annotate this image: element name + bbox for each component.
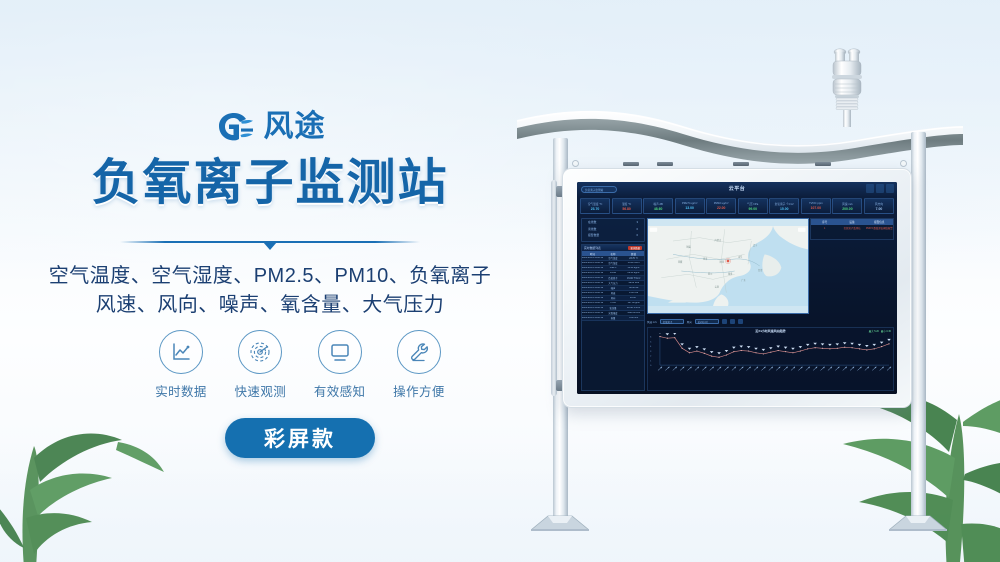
- wind-direction-icon: [880, 367, 884, 371]
- dashboard-title: 云平台: [577, 185, 897, 192]
- marketing-copy-panel: 风途 负氧离子监测站 空气温度、空气湿度、PM2.5、PM10、负氧离子 风速、…: [0, 0, 540, 562]
- chart-point: [696, 351, 697, 352]
- table-cell: 2023-06-21 11:00:12: [582, 312, 603, 314]
- layer-tool-icon[interactable]: [876, 184, 884, 193]
- metric-card[interactable]: 空气温度 ℃23.70: [580, 198, 610, 214]
- table-cell: 2023-06-21 11:00:12: [582, 282, 603, 284]
- table-cell: 2023-06-21 11:00:12: [582, 272, 603, 274]
- table-cell: 噪声: [603, 286, 624, 290]
- chart-point: [792, 352, 793, 353]
- chart-point: [659, 336, 660, 337]
- svg-text:四川: 四川: [708, 272, 712, 275]
- chart-point: [681, 348, 682, 349]
- wind-direction-icon: [828, 367, 832, 371]
- chart-point: [881, 346, 882, 347]
- wind-direction-icon: [791, 367, 795, 371]
- chart-y-tick: 2: [650, 356, 652, 358]
- status-label: 报警数量: [588, 233, 599, 237]
- realtime-data-table: 实时数据列表 更多数据 时间名称数值 2023-06-21 11:00:12空气…: [581, 244, 645, 391]
- chart-point: [711, 356, 712, 357]
- table-column-header: 数值: [623, 252, 644, 256]
- table-cell: 雨量: [603, 316, 624, 320]
- chart-range-label: 风向: [687, 320, 692, 324]
- wind-barb-icon: [865, 345, 869, 347]
- status-value: 0: [636, 227, 638, 231]
- wind-barb-icon: [828, 344, 832, 346]
- support-post-right: [911, 132, 926, 518]
- svg-text:内蒙古: 内蒙古: [715, 238, 722, 242]
- chart-y-tick: 0: [650, 365, 652, 367]
- cabinet-side-rail: [551, 180, 557, 396]
- table-cell: 23.70 ℃: [623, 257, 644, 260]
- chart-point: [807, 348, 808, 349]
- station-selector[interactable]: 负氧离子监测站: [581, 186, 617, 193]
- feature-label: 快速观测: [229, 381, 291, 400]
- chart-point: [667, 338, 668, 339]
- table-column-header: 时间: [582, 252, 603, 256]
- feature-label: 有效感知: [309, 381, 371, 400]
- mount-tab: [815, 162, 831, 166]
- dashboard-toolbar[interactable]: [866, 184, 894, 193]
- map-tool-icon[interactable]: [866, 184, 874, 193]
- table-cell: PM2.5: [603, 267, 624, 269]
- wind-barb-icon: [666, 333, 670, 335]
- wind-direction-icon: [680, 367, 684, 371]
- wind-barb-icon: [887, 339, 891, 341]
- feature-item-realtime-data[interactable]: 实时数据: [150, 330, 212, 400]
- wind-barb-icon: [880, 342, 884, 344]
- wind-direction-icon: [673, 367, 677, 371]
- base-plate-right: [889, 514, 947, 531]
- wind-direction-icon: [754, 367, 758, 371]
- monitor-screen-icon: [328, 341, 352, 363]
- wind-direction-icon: [702, 367, 706, 371]
- alarm-column-header: 序号: [811, 220, 838, 224]
- station-selector-label: 负氧离子监测站: [582, 187, 616, 194]
- wind-direction-icon: [872, 367, 876, 371]
- table-cell: 1200.00 Lux: [623, 312, 644, 314]
- chart-controls: 风速 m/s 负氧离子 风向 近24小时: [647, 318, 894, 325]
- table-cell: 2023-06-21 11:00:12: [582, 297, 603, 299]
- wind-barb-icon: [850, 343, 854, 345]
- wind-direction-icon: [865, 367, 869, 371]
- wind-barb-icon: [858, 344, 862, 346]
- metric-value: 23.70: [591, 207, 600, 211]
- metric-value: 48.60: [654, 207, 663, 211]
- wind-barb-icon: [821, 343, 825, 345]
- table-cell: PM10: [603, 272, 624, 274]
- table-cell: 2023-06-21 11:00:12: [582, 302, 603, 304]
- feature-item-fast-observation[interactable]: 快速观测: [229, 330, 291, 400]
- wind-direction-icon: [665, 367, 669, 371]
- map-graphic: 新疆内蒙古 西藏青海 陕西山东 四川湖南 云南广东 辽宁台湾: [648, 219, 808, 313]
- alarm-rows: 1负氧离子监测站PM2.5 数值超出阈值报警: [811, 225, 893, 231]
- wind-direction-icon: [739, 367, 743, 371]
- feature-item-easy-operation[interactable]: 操作方便: [388, 330, 450, 400]
- wind-direction-icon: [695, 367, 699, 371]
- wind-barb-icon: [754, 348, 758, 350]
- wind-direction-icon: [798, 367, 802, 371]
- wind-direction-icon: [724, 367, 728, 371]
- svg-text:辽宁: 辽宁: [753, 243, 757, 247]
- wind-barb-icon: [762, 349, 766, 351]
- chart-point: [718, 357, 719, 358]
- metric-card[interactable]: PM2.5 ug/m³13.00: [675, 198, 705, 214]
- table-cell: 2023-06-21 11:00:12: [582, 257, 603, 259]
- wind-direction-icon: [769, 367, 773, 371]
- table-cell: 2023-06-21 11:00:12: [582, 267, 603, 269]
- table-cell: TVOC: [603, 302, 624, 304]
- wind-direction-icon: [821, 367, 825, 371]
- chart-y-tick: 5: [650, 341, 652, 343]
- chart-point: [704, 353, 705, 354]
- feature-item-effective-sensing[interactable]: 有效感知: [309, 330, 371, 400]
- table-cell: 2023-06-21 11:00:12: [582, 262, 603, 264]
- chart-point: [770, 352, 771, 353]
- cloud-platform-dashboard: 云平台 负氧离子监测站 空气温度 ℃23.70湿度 ℃56.80噪声 dB48.…: [577, 182, 897, 394]
- wind-direction-icon: [857, 367, 861, 371]
- chart-point: [800, 351, 801, 352]
- table-cell: 0.00 mm: [623, 317, 644, 319]
- fengtu-logo-icon: [215, 110, 255, 144]
- chart-y-tick: 6: [650, 337, 652, 339]
- table-cell: 负氧离子: [603, 276, 624, 280]
- wrench-icon: [407, 340, 431, 364]
- table-cell: 光照强度: [603, 311, 624, 315]
- wind-barb-icon: [702, 348, 706, 350]
- wind-barb-icon: [843, 342, 847, 344]
- feature-label: 操作方便: [388, 381, 450, 400]
- table-cell: 22.00 ug/m³: [623, 272, 644, 274]
- metric-label: 空气温度 ℃: [588, 202, 603, 206]
- chart-point: [778, 350, 779, 351]
- wind-direction-icon: [776, 367, 780, 371]
- table-action-button[interactable]: 更多数据: [628, 246, 642, 250]
- chart-axes: [660, 337, 889, 366]
- wind-barb-icon: [806, 344, 810, 346]
- wind-direction-icon: [850, 367, 854, 371]
- metric-value: 107.00: [811, 206, 821, 210]
- wind-direction-icon: [813, 367, 817, 371]
- table-cell: 13.00 ug/m³: [623, 267, 644, 269]
- brand-name: 风途: [264, 112, 326, 142]
- table-cell: 107.00 ppm: [623, 302, 644, 304]
- metric-card[interactable]: 负氧离子 个/cm³15.00: [769, 198, 799, 214]
- wind-barb-icon: [717, 352, 721, 354]
- model-badge[interactable]: 彩屏款: [225, 418, 375, 458]
- fastener-screw: [900, 160, 907, 167]
- chart-point: [755, 352, 756, 353]
- chart-point: [785, 351, 786, 352]
- wind-barb-icon: [747, 346, 751, 348]
- chart-point: [726, 354, 727, 355]
- chart-range-select[interactable]: 近24小时: [695, 319, 719, 324]
- metric-label: 风方向: [875, 202, 883, 206]
- chart-point: [837, 348, 838, 349]
- chart-point: [822, 348, 823, 349]
- wind-direction-icon: [732, 367, 736, 371]
- wind-barb-icon: [732, 347, 736, 349]
- page-title: 负氧离子监测站: [0, 158, 540, 209]
- table-cell: 2023-06-21 11:00:12: [582, 277, 603, 279]
- feature-icon-circle: [397, 330, 441, 374]
- alarm-column-header: 设备: [838, 220, 865, 224]
- table-column-header: 名称: [603, 252, 624, 256]
- table-cell: 大气压力: [603, 281, 624, 285]
- status-value: 0: [636, 233, 638, 237]
- table-title: 实时数据列表: [584, 246, 601, 250]
- wind-direction-icon: [761, 367, 765, 371]
- wind-barb-icon: [791, 348, 795, 350]
- chart-y-tick: 1: [650, 360, 652, 362]
- wind-barb-icon: [695, 346, 699, 348]
- title-divider: [120, 236, 420, 248]
- mount-tab: [657, 162, 673, 166]
- wind-direction-icon: [806, 367, 810, 371]
- chart-point: [689, 352, 690, 353]
- metric-value: 15.00: [780, 207, 789, 211]
- metric-value: 99.00: [749, 207, 758, 211]
- dashboard-header: 云平台 负氧离子监测站: [577, 182, 897, 197]
- wind-barb-icon: [799, 346, 803, 348]
- metric-label: 风速 m/s: [842, 202, 852, 206]
- wind-barb-icon: [835, 343, 839, 345]
- table-cell: 99.00 hPa: [623, 282, 644, 284]
- wind-barb-icon: [769, 347, 773, 349]
- wind-barb-icon: [710, 351, 714, 353]
- metric-value: 13.00: [685, 206, 694, 210]
- china-region-map[interactable]: 新疆内蒙古 西藏青海 陕西山东 四川湖南 云南广东 辽宁台湾: [647, 218, 809, 314]
- wind-barb-icon: [658, 333, 662, 334]
- wind-barb-icon: [784, 347, 788, 349]
- table-cell: 20.90 %VOL: [623, 307, 644, 309]
- wind-direction-icon: [747, 367, 751, 371]
- poster-stage: 风途 负氧离子监测站 空气温度、空气湿度、PM2.5、PM10、负氧离子 风速、…: [0, 0, 1000, 562]
- feature-label: 实时数据: [150, 381, 212, 400]
- metric-value: 7.00: [876, 207, 883, 211]
- table-cell: 2.00 m/s: [623, 292, 644, 294]
- line-chart-icon: [170, 341, 192, 363]
- metric-label: 负氧离子 个/cm³: [775, 202, 794, 206]
- chart-view-line-icon[interactable]: [730, 319, 735, 324]
- chart-point: [733, 351, 734, 352]
- wind-barb-icon: [680, 343, 684, 345]
- display-cabinet: 云平台 负氧离子监测站 空气温度 ℃23.70湿度 ℃56.80噪声 dB48.…: [562, 168, 912, 408]
- metric-card[interactable]: 风速 m/s200.00: [832, 198, 862, 214]
- wind-barb-icon: [673, 333, 677, 335]
- chart-point: [741, 350, 742, 351]
- wind-barb-icon: [725, 350, 729, 352]
- feature-icon-circle: [318, 330, 362, 374]
- wind-direction-icon: [887, 367, 891, 371]
- alarm-row[interactable]: 1负氧离子监测站PM2.5 数值超出阈值报警: [811, 225, 893, 231]
- chart-line: [660, 337, 889, 358]
- subtitle-line-1: 空气温度、空气湿度、PM2.5、PM10、负氧离子: [0, 259, 540, 288]
- metric-card[interactable]: 风方向7.00: [864, 198, 894, 214]
- metric-label: TVOC ppm: [809, 202, 822, 205]
- feature-icon-circle: [159, 330, 203, 374]
- table-cell: 风向: [603, 296, 624, 300]
- chart-y-tick: 3: [650, 351, 652, 353]
- wind-barb-icon: [872, 344, 876, 346]
- metric-value: 22.00: [717, 206, 726, 210]
- feature-icon-circle: [238, 330, 282, 374]
- wind-barb-icon: [776, 346, 780, 348]
- wind-barb-icon: [739, 346, 743, 348]
- chart-y-tick: 4: [650, 346, 652, 348]
- mount-tab: [733, 162, 749, 166]
- divider-triangle-icon: [263, 242, 277, 250]
- metric-value: 200.00: [842, 207, 852, 211]
- metric-card[interactable]: 气压 hPa99.00: [738, 198, 768, 214]
- trend-chart: 近24小时风速风向趋势 最大 5.20 最小 0.30 6543210: [647, 327, 894, 391]
- wind-direction-icon: [688, 367, 692, 371]
- table-cell: 2023-06-21 11:00:12: [582, 317, 603, 319]
- wind-barb-icon: [688, 348, 692, 350]
- status-label: 离线数: [588, 227, 596, 231]
- lcd-screen: 云平台 负氧离子监测站 空气温度 ℃23.70湿度 ℃56.80噪声 dB48.…: [577, 182, 897, 394]
- wind-direction-icon: [658, 367, 662, 371]
- table-cell: 93.00 °: [623, 297, 644, 299]
- metric-card[interactable]: 噪声 dB48.60: [643, 198, 673, 214]
- base-plate-left: [531, 514, 589, 531]
- metric-card[interactable]: TVOC ppm107.00: [801, 198, 831, 214]
- radar-scan-icon: [248, 340, 272, 364]
- metric-card-row: 空气温度 ℃23.70湿度 ℃56.80噪声 dB48.60PM2.5 ug/m…: [580, 198, 894, 214]
- fastener-screw: [572, 160, 579, 167]
- chart-point: [763, 353, 764, 354]
- chart-point: [674, 337, 675, 338]
- chart-filter-label: 风速 m/s: [647, 320, 657, 324]
- alarm-cell: PM2.5 数值超出阈值报警: [866, 226, 893, 230]
- chart-point: [748, 351, 749, 352]
- table-cell: 氧含量: [603, 306, 624, 310]
- table-cell: 2023-06-21 11:00:12: [582, 292, 603, 294]
- wind-direction-icon: [710, 367, 714, 371]
- chart-point: [844, 347, 845, 348]
- alarm-column-header: 报警信息: [866, 220, 893, 224]
- chart-point: [814, 347, 815, 348]
- chart-point: [859, 348, 860, 349]
- chart-point: [851, 347, 852, 348]
- station-status-panel: 在线数3离线数0报警数量0: [581, 218, 645, 242]
- table-cell: 空气湿度: [603, 261, 624, 265]
- wind-direction-icon: [843, 367, 847, 371]
- wind-direction-icon: [784, 367, 788, 371]
- table-row[interactable]: 2023-06-21 11:00:12雨量0.00 mm: [582, 316, 644, 321]
- subtitle-line-2: 风速、风向、噪声、氧含量、大气压力: [0, 288, 540, 317]
- alarm-cell: 1: [811, 227, 838, 230]
- table-body: 2023-06-21 11:00:12空气温度23.70 ℃2023-06-21…: [582, 256, 644, 321]
- monitoring-station: 云平台 负氧离子监测站 空气温度 ℃23.70湿度 ℃56.80噪声 dB48.…: [515, 40, 965, 530]
- chart-plot: 6543210: [648, 333, 893, 374]
- status-value: 3: [636, 220, 638, 224]
- metric-label: PM2.5 ug/m³: [682, 202, 697, 205]
- table-cell: 2023-06-21 11:00:12: [582, 307, 603, 309]
- chart-export-icon[interactable]: [738, 319, 743, 324]
- wind-barb-icon: [813, 343, 817, 345]
- metric-label: PM10 ug/m³: [714, 202, 729, 205]
- status-row: 报警数量0: [582, 232, 644, 238]
- feature-list: 实时数据 快速观测: [150, 330, 450, 400]
- chart-point: [866, 349, 867, 350]
- metric-label: 湿度 ℃: [622, 202, 631, 206]
- metric-card[interactable]: 湿度 ℃56.80: [612, 198, 642, 214]
- alarm-cell: 负氧离子监测站: [838, 226, 865, 230]
- table-cell: 风速: [603, 291, 624, 295]
- chart-point: [829, 348, 830, 349]
- table-cell: 2023-06-21 11:00:12: [582, 287, 603, 289]
- table-cell: 空气温度: [603, 256, 624, 260]
- wind-direction-icon: [717, 367, 721, 371]
- chart-metric-select[interactable]: 负氧离子: [660, 319, 684, 324]
- metric-value: 56.80: [622, 207, 631, 211]
- chart-point: [888, 343, 889, 344]
- brand-logo: 风途: [0, 105, 540, 149]
- table-cell: 56.80 %RH: [623, 262, 644, 264]
- mount-tab: [623, 162, 639, 166]
- metric-label: 气压 hPa: [747, 202, 758, 206]
- table-cell: 48.60 dB: [623, 287, 644, 289]
- chart-view-bar-icon[interactable]: [722, 319, 727, 324]
- status-label: 在线数: [588, 220, 596, 224]
- settings-tool-icon[interactable]: [886, 184, 894, 193]
- metric-card[interactable]: PM10 ug/m³22.00: [706, 198, 736, 214]
- table-cell: 15.00 个/cm³: [623, 276, 644, 280]
- alarm-panel: 序号设备报警信息 1负氧离子监测站PM2.5 数值超出阈值报警: [810, 218, 894, 240]
- wind-direction-icon: [835, 367, 839, 371]
- chart-point: [874, 348, 875, 349]
- metric-label: 噪声 dB: [653, 202, 662, 206]
